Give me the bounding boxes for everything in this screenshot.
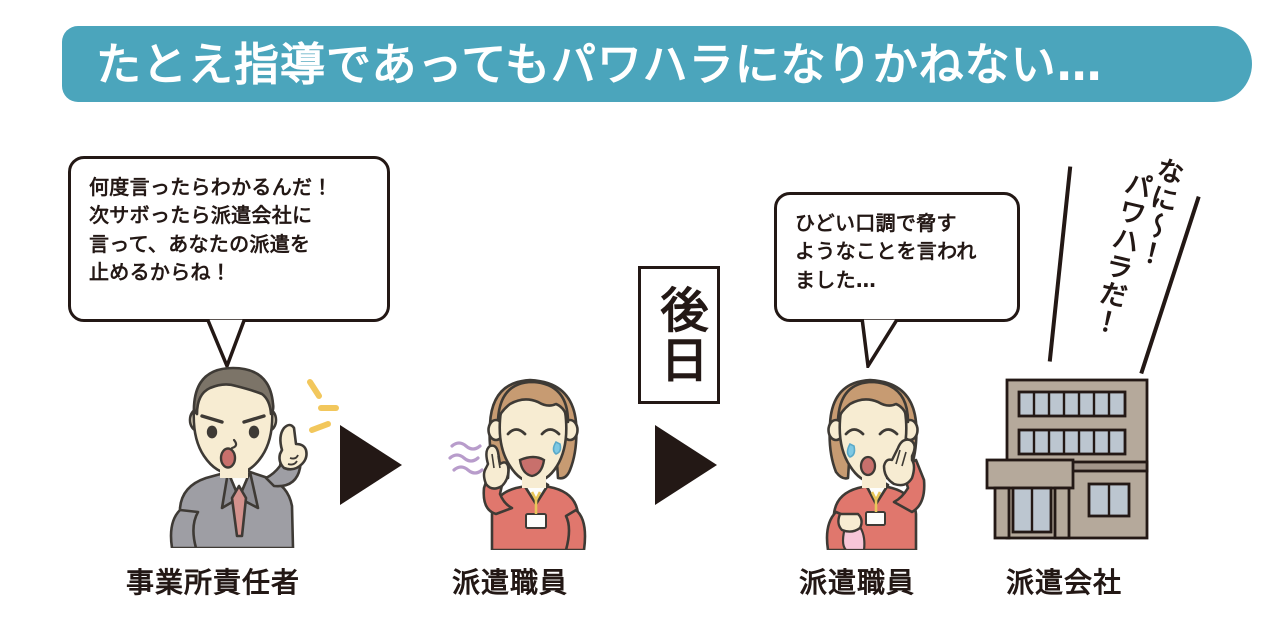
crying-worker-shocked-icon bbox=[448, 368, 613, 550]
figure-label-manager: 事業所責任者 bbox=[126, 561, 300, 601]
angry-manager-pointing-icon bbox=[150, 358, 340, 548]
speech-bubble-manager: 何度言ったらわかるんだ！ 次サボったら派遣会社に 言って、あなたの派遣を 止める… bbox=[68, 156, 390, 322]
infographic-canvas: たとえ指導であってもパワハラになりかねない… 何度言ったらわかるんだ！ 次サボっ… bbox=[0, 0, 1280, 644]
figure-label-agency: 派遣会社 bbox=[1006, 561, 1122, 601]
speech-bubble-worker-text: ひどい口調で脅す ようなことを言われ ました… bbox=[777, 195, 1017, 304]
shout-annotation: なに～！ パワハラだ！ bbox=[1040, 150, 1190, 390]
figure-label-worker-2: 派遣職員 bbox=[799, 561, 915, 601]
office-building-icon bbox=[985, 378, 1153, 542]
page-title: たとえ指導であってもパワハラになりかねない… bbox=[96, 42, 1103, 87]
emphasis-line-left-icon bbox=[1048, 166, 1072, 361]
arrow-right-icon-2 bbox=[655, 425, 717, 505]
figure-label-worker-1: 派遣職員 bbox=[452, 561, 568, 601]
arrow-right-icon-1 bbox=[340, 425, 402, 505]
speech-bubble-worker: ひどい口調で脅す ようなことを言われ ました… bbox=[774, 192, 1020, 322]
speech-bubble-manager-text: 何度言ったらわかるんだ！ 次サボったら派遣会社に 言って、あなたの派遣を 止める… bbox=[71, 159, 387, 297]
crying-worker-wiping-icon bbox=[788, 368, 953, 550]
header-banner: たとえ指導であってもパワハラになりかねない… bbox=[62, 26, 1252, 102]
later-date-box: 後日 bbox=[638, 266, 720, 404]
speech-bubble-worker-tail bbox=[858, 316, 914, 368]
later-date-text: 後日 bbox=[655, 285, 704, 385]
